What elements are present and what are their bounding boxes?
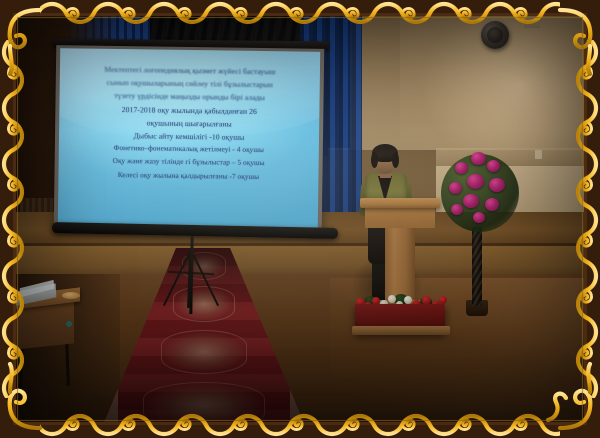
pink-rose: [451, 204, 463, 215]
pink-rose: [467, 174, 484, 189]
speaker-cone: [487, 27, 503, 43]
photo-frame-card: Мектептегі логопедиялық қызмет жүйесі ба…: [0, 0, 600, 438]
slide-text-block: Мектептегі логопедиялық қызмет жүйесі ба…: [64, 62, 314, 184]
pink-rose: [473, 212, 485, 223]
desk-object: [66, 321, 72, 327]
presenter-hair-side: [392, 152, 399, 168]
pink-rose: [471, 152, 486, 165]
pink-rose: [449, 182, 462, 194]
topiary-trunk-texture: [472, 226, 482, 306]
slide-line: Келесі оқу жылына қалдырылғаны -7 оқушы: [64, 168, 312, 185]
white-rose: [404, 296, 412, 304]
presenter-hair-side: [371, 152, 378, 168]
topiary-trunk: [472, 226, 482, 306]
flower-box-rim: [352, 326, 450, 335]
desk-saucer: [62, 292, 80, 299]
pink-rose: [455, 162, 468, 174]
pink-rose: [463, 194, 479, 208]
red-carnation: [439, 296, 447, 304]
pink-rose: [485, 198, 499, 211]
photo-scene: Мектептегі логопедиялық қызмет жүйесі ба…: [0, 0, 600, 438]
white-rose: [388, 295, 396, 303]
wall-speaker-icon: [481, 21, 509, 49]
pink-rose: [487, 160, 500, 172]
topiary-crown: [437, 150, 523, 236]
podium-desktop: [360, 198, 440, 208]
projector-screen: Мектептегі логопедиялық қызмет жүйесі ба…: [54, 45, 325, 231]
wall-socket: [535, 150, 542, 159]
pink-rose: [489, 178, 505, 192]
podium-panel: [365, 206, 435, 228]
wall-plate: [524, 14, 540, 28]
projected-slide: Мектептегі логопедиялық қызмет жүйесі ба…: [58, 48, 320, 228]
